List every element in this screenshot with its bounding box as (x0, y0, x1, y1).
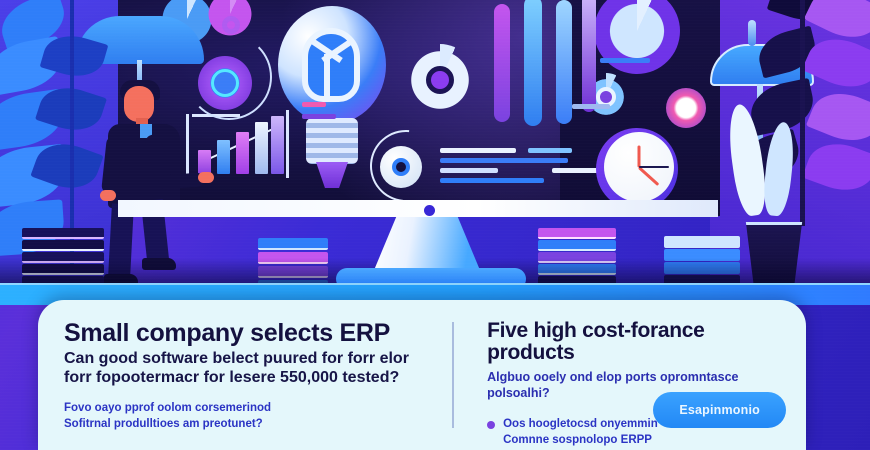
wall-clock-icon (596, 128, 678, 210)
person-head (124, 86, 154, 122)
vertical-bar-1 (494, 4, 510, 122)
left-subheadline-line-1: Can good software belect puured for forr… (64, 350, 445, 369)
left-body-line-1: Fovo oayo pprof oolom corsemerinod (64, 400, 445, 416)
bar-2 (217, 140, 230, 174)
businessman-figure (86, 78, 216, 288)
left-body-line-2: Sofitrnal produlltioes am preotunet? (64, 416, 445, 432)
cta-button[interactable]: Esapinmonio (653, 392, 786, 428)
right-headline: Five high cost-forance products (487, 320, 768, 364)
right-bullet-text: Oos hoogletocsd onyemmin Comnne sospnolo… (503, 417, 658, 449)
monitor-chin (118, 200, 718, 217)
code-line (440, 168, 498, 173)
right-sub-line-1: Algbuo ooely ond elop ports opromntasce (487, 370, 768, 386)
left-body: Fovo oayo pprof oolom corsemerinod Sofit… (64, 400, 445, 433)
code-line (572, 104, 610, 109)
banner-illustration: Small company selects ERP Can good softw… (0, 0, 870, 450)
code-line (440, 158, 568, 163)
ring-icon-d (222, 16, 240, 34)
left-headline: Small company selects ERP (64, 320, 445, 346)
bar-4 (255, 122, 268, 174)
monitor-power-dot-icon (424, 205, 435, 216)
card-column-left: Small company selects ERP Can good softw… (64, 320, 461, 450)
code-line (440, 178, 544, 183)
code-line (600, 58, 650, 63)
vertical-bar-2 (524, 0, 542, 126)
code-line (302, 114, 336, 119)
card-column-right: Five high cost-forance products Algbuo o… (461, 320, 784, 450)
vertical-bar-3 (556, 0, 572, 124)
left-subheadline-line-2: forr fopootermacr for lesere 550,000 tes… (64, 369, 445, 388)
code-line (440, 148, 516, 153)
content-card: Small company selects ERP Can good softw… (38, 300, 806, 450)
vertical-bar-4 (582, 0, 596, 112)
code-line (528, 148, 572, 153)
bar-3 (236, 132, 249, 174)
column-divider (452, 322, 454, 428)
bullet-dot-icon (487, 421, 495, 429)
code-line (302, 102, 326, 107)
right-bullet-line-1: Oos hoogletocsd onyemmin (503, 418, 658, 430)
right-bullet-line-2: Comnne sospnolopo ERPP (503, 434, 652, 446)
